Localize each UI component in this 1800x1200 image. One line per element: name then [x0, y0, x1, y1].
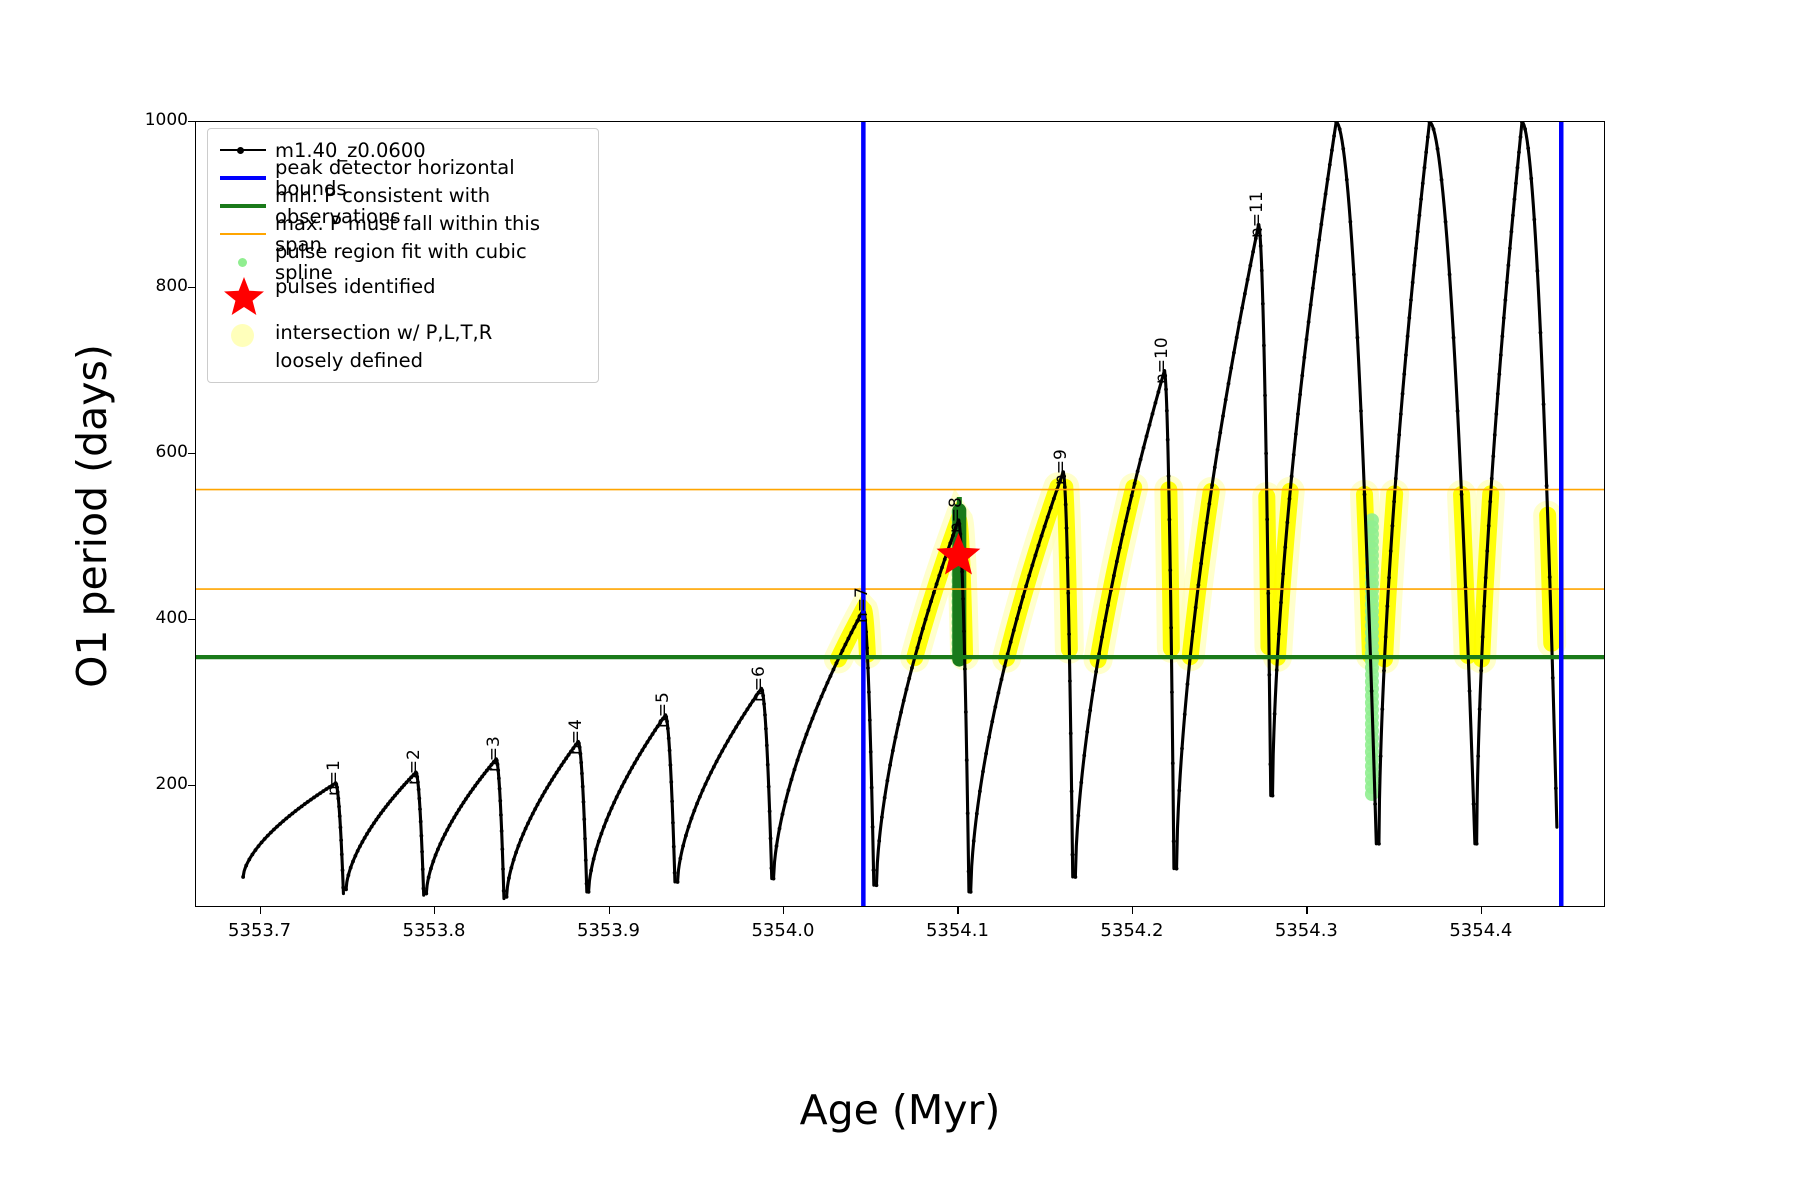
data-marker: [379, 811, 383, 815]
legend-key-line-thick-icon: [216, 192, 270, 220]
x-tick-label: 5354.3: [1246, 920, 1366, 941]
data-marker: [448, 824, 452, 828]
data-marker: [1251, 250, 1255, 254]
data-marker: [421, 867, 425, 871]
curve-cycle-5: [589, 715, 675, 892]
data-marker: [287, 814, 291, 818]
data-marker: [846, 637, 850, 641]
data-marker: [431, 859, 435, 863]
data-marker: [1494, 412, 1498, 416]
data-marker: [241, 875, 245, 879]
data-marker: [480, 775, 484, 779]
data-marker: [1267, 673, 1271, 677]
data-marker: [1165, 409, 1169, 413]
data-marker: [1240, 306, 1244, 310]
y-axis-title: O1 period (days): [68, 196, 116, 836]
data-marker: [740, 716, 744, 720]
data-marker: [562, 760, 566, 764]
data-marker: [536, 803, 540, 807]
x-tick: [260, 907, 261, 914]
data-marker: [1148, 423, 1152, 427]
data-marker: [820, 695, 824, 699]
data-marker: [521, 832, 525, 836]
data-marker: [263, 837, 267, 841]
data-marker: [417, 788, 421, 792]
data-marker: [372, 821, 376, 825]
legend-line-swatch: [220, 176, 266, 180]
data-marker: [303, 802, 307, 806]
data-marker: [1384, 635, 1388, 639]
data-marker: [1033, 553, 1037, 557]
peak-annotation-n9: n=9: [1051, 449, 1071, 485]
data-marker: [787, 788, 791, 792]
data-marker: [1548, 575, 1552, 579]
data-marker: [1191, 629, 1195, 633]
data-marker: [826, 681, 830, 685]
data-marker: [509, 866, 513, 870]
data-marker: [1266, 591, 1270, 595]
data-marker: [1500, 334, 1504, 338]
data-marker: [564, 756, 568, 760]
data-marker: [476, 781, 480, 785]
data-marker: [582, 800, 586, 804]
data-marker: [617, 790, 621, 794]
data-marker: [726, 739, 730, 743]
data-marker: [450, 820, 454, 824]
x-tick-label: 5353.7: [200, 920, 320, 941]
data-marker: [1421, 181, 1425, 185]
data-marker: [1168, 518, 1172, 522]
x-tick-label: 5353.9: [549, 920, 669, 941]
data-marker: [427, 875, 431, 879]
data-marker: [1488, 500, 1492, 504]
data-marker: [1396, 454, 1400, 458]
data-marker: [870, 786, 874, 790]
data-marker: [1514, 181, 1518, 185]
data-marker: [918, 636, 922, 640]
data-marker: [1069, 731, 1073, 735]
data-marker: [309, 798, 313, 802]
data-marker: [770, 866, 774, 870]
data-marker: [871, 825, 875, 829]
data-marker: [1545, 484, 1549, 488]
data-marker: [1065, 556, 1069, 560]
data-marker: [814, 709, 818, 713]
data-marker: [723, 744, 727, 748]
data-marker: [1404, 353, 1408, 357]
data-marker: [1491, 454, 1495, 458]
data-marker: [498, 787, 502, 791]
data-marker: [1481, 635, 1485, 639]
data-marker: [653, 728, 657, 732]
data-marker: [1294, 432, 1298, 436]
data-marker: [993, 705, 997, 709]
data-marker: [877, 839, 881, 843]
data-marker: [778, 827, 782, 831]
data-marker: [762, 702, 766, 706]
data-marker: [706, 776, 710, 780]
data-marker: [1511, 213, 1515, 217]
data-marker: [585, 882, 589, 886]
y-tick: [188, 121, 195, 122]
y-tick-label: 1000: [145, 110, 188, 130]
data-marker: [766, 763, 770, 767]
data-marker: [1262, 344, 1266, 348]
data-marker: [1319, 222, 1323, 226]
x-tick-label: 5354.4: [1421, 920, 1541, 941]
data-marker: [1406, 334, 1410, 338]
data-marker: [668, 749, 672, 753]
data-marker: [981, 770, 985, 774]
data-marker: [1100, 635, 1104, 639]
data-marker: [1224, 398, 1228, 402]
data-marker: [880, 815, 884, 819]
data-marker: [1503, 298, 1507, 302]
data-marker: [441, 837, 445, 841]
y-tick: [188, 619, 195, 620]
data-marker: [905, 687, 909, 691]
data-marker: [926, 608, 930, 612]
data-marker: [1248, 264, 1252, 268]
data-marker: [1382, 669, 1386, 673]
data-marker: [960, 570, 964, 574]
data-marker: [315, 793, 319, 797]
data-marker: [932, 591, 936, 595]
data-marker: [341, 868, 345, 872]
data-marker: [1444, 220, 1448, 224]
data-marker: [500, 847, 504, 851]
peak-annotation-n10: n=10: [1152, 337, 1172, 384]
data-marker: [1218, 431, 1222, 435]
data-marker: [584, 858, 588, 862]
curve-cycle-6: [678, 689, 772, 882]
data-marker: [975, 812, 979, 816]
data-marker: [1015, 617, 1019, 621]
data-marker: [695, 802, 699, 806]
data-marker: [462, 801, 466, 805]
data-marker: [635, 757, 639, 761]
data-marker: [1407, 316, 1411, 320]
data-marker: [924, 617, 928, 621]
data-marker: [429, 867, 433, 871]
data-marker: [720, 749, 724, 753]
data-marker: [937, 574, 941, 578]
data-marker: [612, 801, 616, 805]
data-marker: [610, 806, 614, 810]
data-marker: [1221, 414, 1225, 418]
data-marker: [1394, 477, 1398, 481]
data-marker: [420, 850, 424, 854]
data-marker: [643, 744, 647, 748]
data-marker: [1088, 708, 1092, 712]
data-marker: [1411, 281, 1415, 285]
data-marker: [247, 858, 251, 862]
data-marker: [384, 805, 388, 809]
data-marker: [1166, 438, 1170, 442]
data-marker: [377, 815, 381, 819]
data-marker: [1261, 302, 1265, 306]
data-marker: [1024, 584, 1028, 588]
data-marker: [1175, 867, 1179, 871]
data-marker: [840, 649, 844, 653]
data-marker: [505, 895, 509, 899]
legend-row-7: intersection w/ P,L,T,R: [216, 318, 590, 346]
data-marker: [1484, 576, 1488, 580]
data-marker: [748, 703, 752, 707]
data-marker: [899, 710, 903, 714]
data-marker: [843, 643, 847, 647]
data-marker: [1345, 178, 1349, 182]
data-marker: [852, 625, 856, 629]
data-marker: [422, 887, 426, 891]
data-marker: [1424, 150, 1428, 154]
data-marker: [1356, 336, 1360, 340]
data-marker: [471, 787, 475, 791]
data-marker: [811, 717, 815, 721]
data-marker: [967, 870, 971, 874]
data-marker: [1326, 177, 1330, 181]
data-marker: [275, 825, 279, 829]
data-marker: [1499, 353, 1503, 357]
data-marker: [478, 778, 482, 782]
data-marker: [360, 840, 364, 844]
data-marker: [796, 758, 800, 762]
data-marker: [1496, 392, 1500, 396]
data-marker: [1478, 707, 1482, 711]
x-tick-label: 5354.0: [723, 920, 843, 941]
data-marker: [483, 772, 487, 776]
data-marker: [1412, 263, 1416, 267]
data-marker: [625, 775, 629, 779]
data-marker: [978, 789, 982, 793]
legend-key-none-icon: [216, 346, 270, 374]
data-marker: [367, 828, 371, 832]
data-marker: [712, 765, 716, 769]
data-marker: [885, 779, 889, 783]
data-marker: [1235, 336, 1239, 340]
data-marker: [543, 790, 547, 794]
data-marker: [434, 853, 438, 857]
data-marker: [381, 808, 385, 812]
data-marker: [1402, 372, 1406, 376]
data-marker: [457, 808, 461, 812]
data-marker: [1551, 676, 1555, 680]
data-marker: [579, 761, 583, 765]
data-marker: [823, 688, 827, 692]
data-marker: [272, 828, 276, 832]
data-marker: [524, 827, 528, 831]
data-marker: [1379, 754, 1383, 758]
data-marker: [1142, 446, 1146, 450]
data-marker: [1094, 670, 1098, 674]
peak-annotation-n2: n=2: [404, 750, 424, 786]
data-marker: [507, 876, 511, 880]
data-marker: [1285, 520, 1289, 524]
data-marker: [1423, 166, 1427, 170]
data-marker: [1009, 640, 1013, 644]
data-marker: [737, 721, 741, 725]
data-marker: [438, 842, 442, 846]
data-marker: [1202, 541, 1206, 545]
data-marker: [1265, 517, 1269, 521]
data-marker: [935, 582, 939, 586]
data-marker: [972, 839, 976, 843]
data-marker: [1040, 534, 1044, 538]
data-marker: [1183, 712, 1187, 716]
data-marker: [499, 813, 503, 817]
data-marker: [300, 804, 304, 808]
data-marker: [671, 821, 675, 825]
data-marker: [1271, 794, 1275, 798]
data-marker: [306, 800, 310, 804]
data-marker: [835, 661, 839, 665]
data-marker: [964, 710, 968, 714]
data-marker: [1416, 230, 1420, 234]
data-marker: [1279, 601, 1283, 605]
data-marker: [1370, 689, 1374, 693]
data-marker: [622, 780, 626, 784]
data-marker: [291, 812, 295, 816]
data-marker: [1426, 135, 1430, 139]
data-marker: [763, 713, 767, 717]
legend-key-star-icon: [216, 276, 270, 318]
data-marker: [1021, 595, 1025, 599]
data-marker: [997, 691, 1001, 695]
data-marker: [768, 809, 772, 813]
data-marker: [1124, 519, 1128, 523]
data-marker: [560, 763, 564, 767]
data-marker: [883, 796, 887, 800]
data-marker: [681, 844, 685, 848]
data-marker: [1460, 492, 1464, 496]
data-marker: [1296, 412, 1300, 416]
data-marker: [374, 818, 378, 822]
curve-cycle-4: [507, 742, 587, 897]
data-marker: [678, 857, 682, 861]
data-marker: [894, 735, 898, 739]
data-marker: [1307, 320, 1311, 324]
data-marker: [767, 785, 771, 789]
data-marker: [698, 795, 702, 799]
data-marker: [869, 750, 873, 754]
peak-annotation-n1: n=1: [324, 760, 344, 796]
data-marker: [940, 565, 944, 569]
data-marker: [1506, 263, 1510, 267]
data-marker: [514, 850, 518, 854]
data-marker: [704, 782, 708, 786]
x-tick-label: 5354.1: [897, 920, 1017, 941]
data-marker: [1037, 544, 1041, 548]
data-marker: [1298, 393, 1302, 397]
data-marker: [868, 718, 872, 722]
data-marker: [1452, 336, 1456, 340]
data-marker: [1275, 668, 1279, 672]
figure-root: O1 period (days) Age (Myr) m1.40_z0.0600…: [0, 0, 1800, 1200]
data-marker: [526, 821, 530, 825]
data-marker: [538, 798, 542, 802]
data-marker: [1309, 303, 1313, 307]
data-marker: [1324, 192, 1328, 196]
data-marker: [1180, 747, 1184, 751]
data-marker: [459, 804, 463, 808]
data-marker: [519, 838, 523, 842]
legend-key-line-icon: [216, 220, 270, 248]
data-marker: [1073, 875, 1077, 879]
data-marker: [555, 771, 559, 775]
data-marker: [597, 839, 601, 843]
data-marker: [1493, 433, 1497, 437]
legend-key-line-thick-icon: [216, 164, 270, 192]
data-marker: [580, 772, 584, 776]
data-marker: [1043, 524, 1047, 528]
data-marker: [684, 834, 688, 838]
data-marker: [1392, 500, 1396, 504]
data-marker: [1067, 632, 1071, 636]
data-marker: [1305, 338, 1309, 342]
data-marker: [365, 832, 369, 836]
data-marker: [1387, 576, 1391, 580]
data-marker: [583, 837, 587, 841]
data-marker: [1476, 754, 1480, 758]
data-marker: [1332, 134, 1336, 138]
data-marker: [1164, 387, 1168, 391]
peak-annotation-n6: n=6: [749, 666, 769, 702]
data-marker: [1373, 802, 1377, 806]
legend-label: pulses identified: [270, 276, 436, 297]
data-marker: [500, 829, 504, 833]
data-marker: [545, 786, 549, 790]
data-marker: [1154, 401, 1158, 405]
data-marker: [436, 847, 440, 851]
x-tick-label: 5354.2: [1072, 920, 1192, 941]
data-marker: [907, 677, 911, 681]
x-tick: [783, 907, 784, 914]
data-marker: [1419, 197, 1423, 201]
data-marker: [1526, 146, 1530, 150]
data-marker: [1352, 273, 1356, 277]
data-marker: [1207, 502, 1211, 506]
data-marker: [943, 557, 947, 561]
data-marker: [1409, 298, 1413, 302]
data-marker: [1391, 524, 1395, 528]
data-marker: [1363, 492, 1367, 496]
data-marker: [817, 702, 821, 706]
data-marker: [1145, 434, 1149, 438]
data-marker: [346, 873, 350, 877]
legend-key-dot-icon: [216, 248, 270, 276]
data-marker: [633, 761, 637, 765]
legend-line-swatch: [220, 233, 266, 235]
data-marker: [1292, 453, 1296, 457]
x-tick: [434, 907, 435, 914]
data-marker: [1277, 632, 1281, 636]
data-marker: [1490, 477, 1494, 481]
data-marker: [731, 730, 735, 734]
data-marker: [687, 825, 691, 829]
data-marker: [669, 780, 673, 784]
peak-annotation-n5: n=5: [653, 692, 673, 728]
data-marker: [672, 845, 676, 849]
data-marker: [1171, 761, 1175, 765]
data-marker: [690, 816, 694, 820]
data-marker: [673, 871, 677, 875]
data-marker: [266, 834, 270, 838]
data-marker: [962, 629, 966, 633]
data-marker: [715, 760, 719, 764]
legend-label: intersection w/ P,L,T,R: [270, 322, 492, 343]
data-marker: [1313, 270, 1317, 274]
data-marker: [775, 844, 779, 848]
